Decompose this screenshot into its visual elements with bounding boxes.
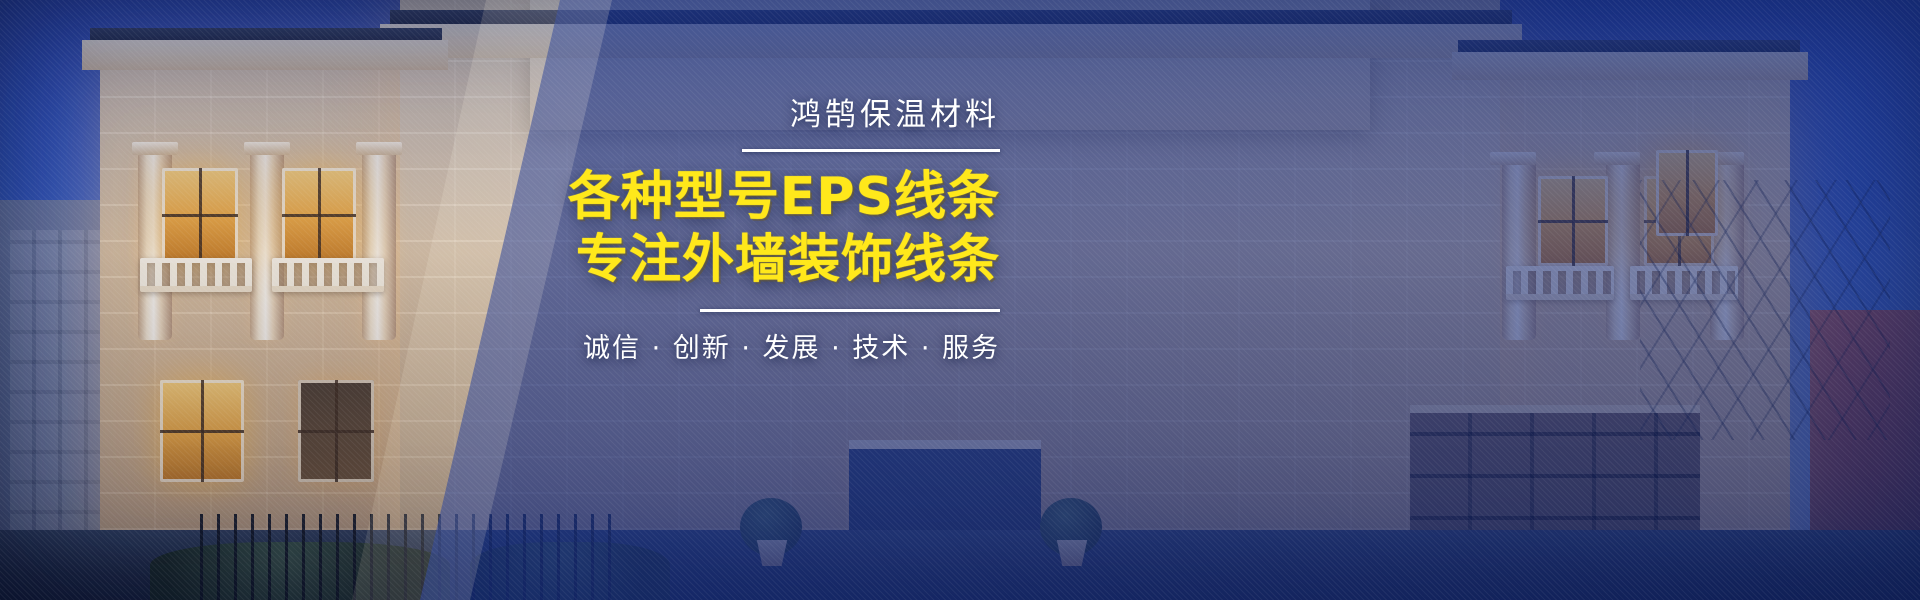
column-capital: [132, 142, 178, 155]
window-mullion: [298, 430, 374, 433]
window-lit: [160, 380, 244, 482]
column: [1606, 160, 1640, 340]
cornice-center: [380, 24, 1522, 58]
column: [362, 150, 396, 340]
divider-top: [742, 149, 1000, 152]
column-capital: [1594, 152, 1640, 165]
headline-line-1: 各种型号EPS线条: [560, 166, 1000, 229]
window-mullion: [162, 214, 238, 217]
cornice-left: [82, 40, 448, 70]
roof-edge-center: [390, 10, 1512, 24]
cornice-right: [1452, 52, 1808, 80]
window-mullion: [160, 430, 244, 433]
window-mullion: [1538, 220, 1608, 223]
column: [1502, 160, 1536, 340]
iron-fence: [200, 514, 620, 600]
divider-bottom: [700, 309, 1000, 312]
window-lit: [162, 168, 238, 262]
banner-copy: 鸿鹄保温材料 各种型号EPS线条 专注外墙装饰线条 诚信 · 创新 · 发展 ·…: [560, 96, 1000, 365]
headline-line-2: 专注外墙装饰线条: [560, 229, 1000, 292]
column: [250, 150, 284, 340]
tagline: 诚信 · 创新 · 发展 · 技术 · 服务: [560, 326, 1000, 365]
promo-banner: 鸿鹄保温材料 各种型号EPS线条 专注外墙装饰线条 诚信 · 创新 · 发展 ·…: [0, 0, 1920, 600]
balustrade: [140, 258, 252, 292]
column-capital: [356, 142, 402, 155]
window-lit: [282, 168, 356, 262]
tree-branches: [1640, 180, 1890, 440]
column-capital: [244, 142, 290, 155]
brand-eyebrow: 鸿鹄保温材料: [560, 96, 1000, 135]
window-lit: [1538, 176, 1608, 266]
balustrade: [272, 258, 384, 292]
balustrade: [1506, 266, 1614, 300]
column-capital: [1490, 152, 1536, 165]
window: [298, 380, 374, 482]
window-mullion: [282, 214, 356, 217]
